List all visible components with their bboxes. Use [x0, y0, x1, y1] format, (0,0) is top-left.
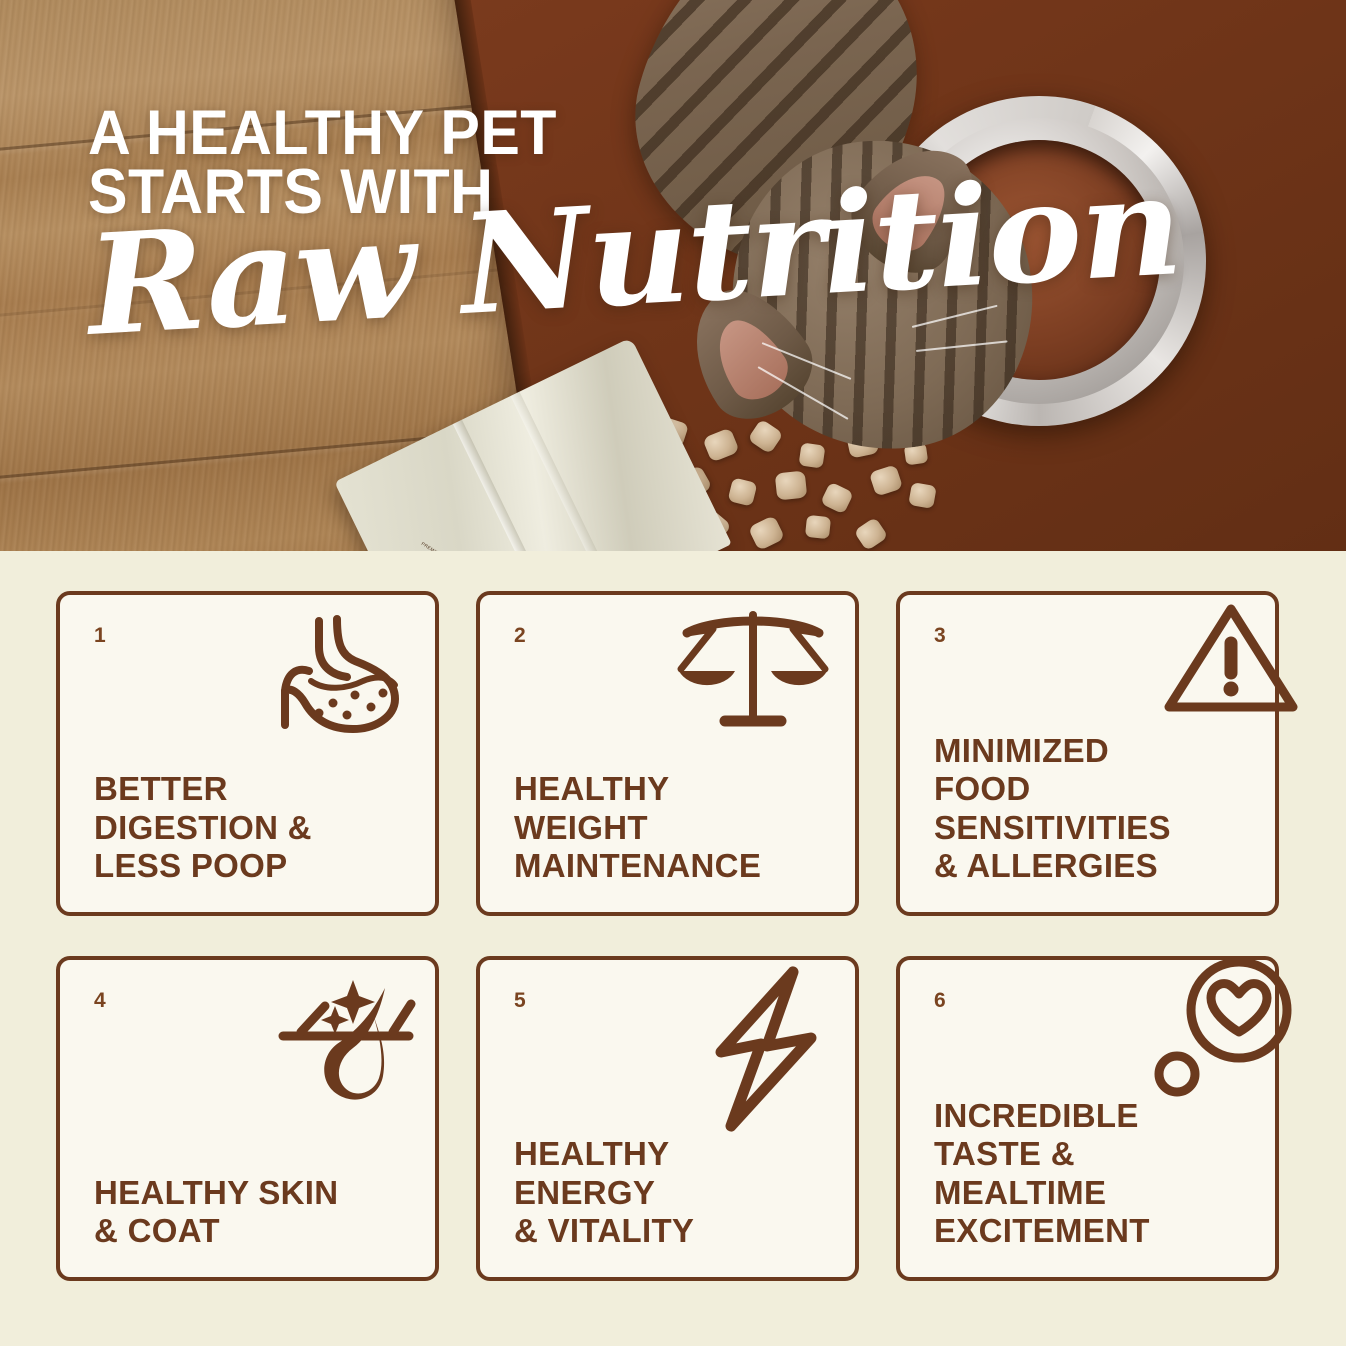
hero-image-section: PREMIUM INGREDIENTS FROM AROUND THE WORL… — [0, 0, 1346, 551]
warning-triangle-icon — [1161, 599, 1301, 717]
kibble-piece — [775, 471, 808, 501]
benefit-number: 2 — [514, 625, 825, 646]
infographic-page: PREMIUM INGREDIENTS FROM AROUND THE WORL… — [0, 0, 1346, 1346]
benefit-card-6[interactable]: 6 INCREDIBLE TASTE & MEALTIME EXCITEMENT — [896, 956, 1279, 1281]
benefit-number: 3 — [934, 625, 1245, 646]
kibble-piece — [805, 515, 831, 539]
benefit-title: HEALTHY SKIN & COAT — [94, 1174, 405, 1251]
benefit-number: 6 — [934, 990, 1245, 1011]
bag-fold — [453, 420, 563, 551]
benefit-title: HEALTHY ENERGY & VITALITY — [514, 1135, 825, 1251]
kibble-piece — [908, 482, 937, 509]
benefit-number: 1 — [94, 625, 405, 646]
benefit-number: 5 — [514, 990, 825, 1011]
benefit-card-3[interactable]: 3 MINIMIZED FOOD SENSITIVITIES & ALLERGI… — [896, 591, 1279, 916]
benefit-title: MINIMIZED FOOD SENSITIVITIES & ALLERGIES — [934, 732, 1245, 886]
benefit-card-4[interactable]: 4 HEALTHY SKIN & COAT — [56, 956, 439, 1281]
benefit-card-5[interactable]: 5 HEALTHY ENERGY & VITALITY — [476, 956, 859, 1281]
benefits-grid: 1 BETTER DIGESTION & L — [56, 591, 1294, 1281]
headline-line-1: A HEALTHY PET — [88, 104, 1096, 163]
benefit-title: INCREDIBLE TASTE & MEALTIME EXCITEMENT — [934, 1097, 1245, 1251]
benefit-title: HEALTHY WEIGHT MAINTENANCE — [514, 770, 825, 886]
bag-fold — [510, 392, 620, 551]
benefit-title: BETTER DIGESTION & LESS POOP — [94, 770, 405, 886]
heart-in-circle-icon — [1151, 954, 1301, 1114]
benefits-section: 1 BETTER DIGESTION & L — [0, 551, 1346, 1346]
bag-label: PREMIUM INGREDIENTS FROM AROUND THE WORL… — [401, 541, 601, 551]
benefit-number: 4 — [94, 990, 405, 1011]
benefit-card-2[interactable]: 2 HEALTHY WEIGHT MAINTENANCE — [476, 591, 859, 916]
hero-headline: A HEALTHY PET STARTS WITH Raw Nutrition — [88, 104, 1160, 346]
benefit-card-1[interactable]: 1 BETTER DIGESTION & L — [56, 591, 439, 916]
